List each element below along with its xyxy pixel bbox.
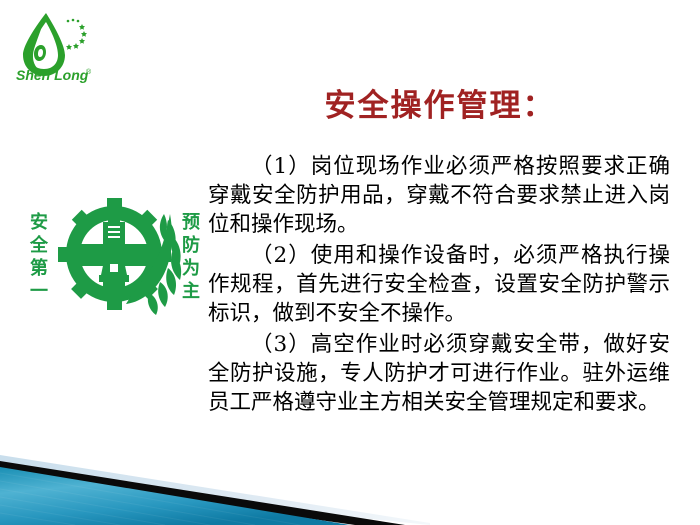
- star-arc-icon: [66, 19, 87, 50]
- black-stripe: [0, 461, 405, 525]
- svg-text:安: 安: [30, 211, 48, 233]
- svg-text:主: 主: [182, 280, 200, 302]
- svg-text:防: 防: [182, 234, 200, 256]
- body-paragraph-2: （2）使用和操作设备时，必须严格执行操作规程，首先进行安全检查，设置安全防护警示…: [208, 241, 670, 328]
- safety-first-emblem: 安 全 第 一 预 防 为 主: [22, 192, 208, 318]
- logo-wordmark: Shen Long: [16, 67, 89, 83]
- blue-wedge-texture: [0, 473, 300, 525]
- pale-blue-band: [0, 455, 430, 525]
- body-paragraph-1: （1）岗位现场作业必须严格按照要求正确穿戴安全防护用品，穿戴不符合要求禁止进入岗…: [208, 152, 670, 239]
- svg-text:预: 预: [182, 212, 200, 233]
- shen-long-logo: Shen Long ®: [8, 8, 104, 84]
- svg-text:第: 第: [30, 257, 48, 279]
- svg-text:为: 为: [182, 257, 200, 279]
- bottom-diagonal-banner: [0, 415, 700, 525]
- body-paragraph-3: （3）高空作业时必须穿戴安全带，做好安全防护设施，专人防护才可进行作业。驻外运维…: [208, 330, 670, 417]
- slide-canvas: Shen Long ® 安全操作管理： 安 全 第 一 预 防 为 主: [0, 0, 700, 525]
- body-copy: （1）岗位现场作业必须严格按照要求正确穿戴安全防护用品，穿戴不符合要求禁止进入岗…: [208, 152, 670, 417]
- blue-wedge: [0, 467, 350, 525]
- page-title: 安全操作管理：: [205, 88, 675, 125]
- emblem-right-text: 预 防 为 主: [182, 212, 200, 302]
- svg-text:全: 全: [29, 234, 49, 256]
- emblem-left-text: 安 全 第 一: [29, 211, 49, 302]
- logo-trademark-symbol: ®: [86, 68, 92, 76]
- svg-text:一: 一: [30, 281, 48, 302]
